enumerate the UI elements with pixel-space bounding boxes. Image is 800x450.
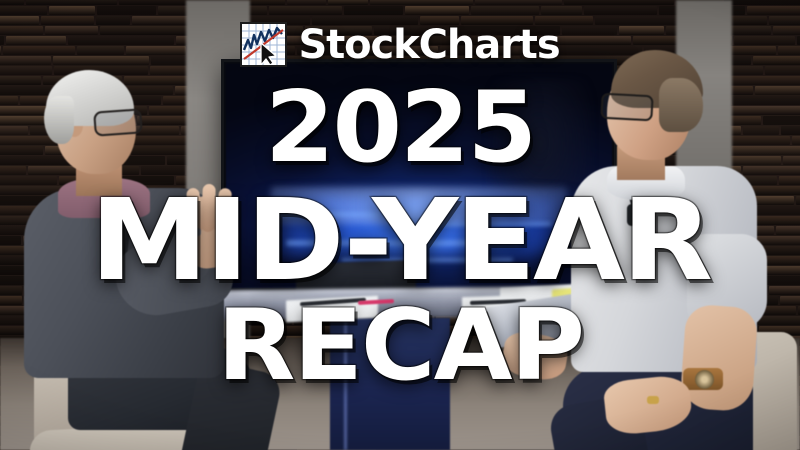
wall-plank [475, 0, 562, 5]
wall-plank [471, 6, 539, 15]
person-right [555, 48, 800, 450]
video-thumbnail: StockCharts 2025 MID-YEAR RECAP [0, 0, 800, 450]
lapel-microphone [627, 204, 636, 226]
tv-ui-bar [403, 222, 551, 226]
wall-plank [328, 0, 368, 5]
finger [201, 184, 216, 232]
wall-plank [0, 296, 22, 305]
wall-plank [0, 6, 47, 15]
tv-stockcharts-ghost-logo [271, 187, 567, 223]
wall-plank [0, 96, 18, 105]
wall-plank [26, 0, 117, 5]
wall-plank [0, 0, 24, 5]
stockcharts-logo: StockCharts [0, 22, 800, 67]
wall-plank [564, 0, 674, 5]
tv-ui-bar [263, 212, 380, 217]
wall-plank [49, 6, 95, 15]
wall-plank [97, 6, 156, 15]
wall-plank [269, 6, 342, 15]
person-left [20, 70, 270, 450]
person-left-glasses [93, 108, 143, 136]
person-right-glasses [600, 93, 653, 122]
wall-plank [747, 6, 800, 15]
wall-plank [370, 0, 473, 5]
wall-plank [287, 0, 326, 5]
wristwatch-face [695, 370, 714, 389]
person-left-hair-side [44, 96, 74, 144]
wall-plank [584, 6, 657, 15]
desk-pedestal [330, 318, 450, 450]
wall-plank [0, 236, 21, 245]
wall-plank [0, 286, 22, 295]
stockcharts-chart-logo-icon [240, 22, 287, 67]
wall-plank [724, 0, 800, 5]
wall-plank [541, 6, 582, 15]
wall-plank [344, 6, 403, 15]
person-right-forearm [679, 304, 758, 413]
person-right-hair-side [659, 78, 703, 132]
tv-ui-bar [286, 240, 520, 246]
person-left-ring [188, 228, 201, 236]
wall-plank [405, 6, 469, 15]
person-right-ring [647, 396, 659, 404]
stockcharts-wordmark: StockCharts [298, 25, 559, 65]
